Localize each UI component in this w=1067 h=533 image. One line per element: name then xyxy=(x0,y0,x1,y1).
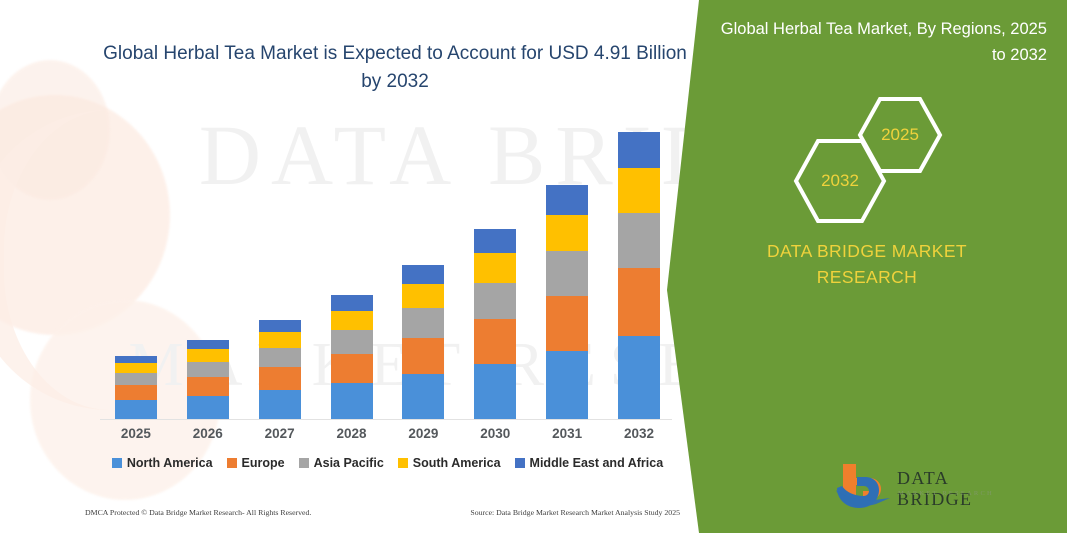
hexagon-end-year-label: 2032 xyxy=(821,171,859,191)
stacked-bar xyxy=(618,132,660,419)
logo-wordmark: DATA BRIDGE xyxy=(897,468,1025,510)
legend-item[interactable]: North America xyxy=(112,456,213,470)
bar-segment xyxy=(618,213,660,268)
bar-segment xyxy=(331,311,373,330)
legend-swatch-icon xyxy=(515,458,525,468)
infographic-canvas: DATA BRIDGE MARKET RESEARCH Global Herba… xyxy=(0,0,1067,533)
logo-tagline: MARKET RESEARCH xyxy=(898,490,994,497)
legend-label: Europe xyxy=(242,456,285,470)
x-axis-tick-label: 2032 xyxy=(603,426,675,441)
bar-segment xyxy=(546,185,588,214)
stacked-bar xyxy=(115,356,157,420)
stacked-bar xyxy=(187,340,229,419)
bar-segment xyxy=(474,229,516,253)
stacked-bar xyxy=(331,295,373,419)
bar-segment xyxy=(187,340,229,350)
stacked-bar xyxy=(259,320,301,419)
bar-segment xyxy=(259,390,301,419)
bar-segment xyxy=(259,348,301,367)
bar-segment xyxy=(402,265,444,284)
bar-segment xyxy=(115,400,157,419)
legend-item[interactable]: Middle East and Africa xyxy=(515,456,664,470)
bar-segment xyxy=(402,374,444,419)
bar-segment xyxy=(115,356,157,364)
hexagon-start-year: 2025 xyxy=(856,95,944,175)
brand-name-line-1: DATA BRIDGE MARKET xyxy=(767,241,967,261)
bar-segment xyxy=(474,253,516,282)
legend-label: Asia Pacific xyxy=(314,456,384,470)
legend-label: South America xyxy=(413,456,501,470)
chart-axis-line xyxy=(100,419,672,420)
legend-item[interactable]: South America xyxy=(398,456,501,470)
hexagon-end-year: 2032 xyxy=(792,137,888,225)
bar-segment xyxy=(546,296,588,351)
logo-mark-icon xyxy=(835,462,895,510)
bar-segment xyxy=(474,283,516,319)
bar-segment xyxy=(546,251,588,296)
bar-segment xyxy=(402,308,444,337)
x-axis-tick-label: 2027 xyxy=(244,426,316,441)
legend-item[interactable]: Asia Pacific xyxy=(299,456,384,470)
bar-segment xyxy=(259,332,301,347)
hexagon-start-year-label: 2025 xyxy=(881,125,919,145)
legend-item[interactable]: Europe xyxy=(227,456,285,470)
x-axis-tick-label: 2026 xyxy=(172,426,244,441)
stacked-bar xyxy=(546,185,588,419)
bar-segment xyxy=(115,373,157,385)
bar-column xyxy=(172,120,244,419)
legend-label: Middle East and Africa xyxy=(530,456,664,470)
legend-swatch-icon xyxy=(398,458,408,468)
bar-segment xyxy=(618,336,660,419)
brand-name: DATA BRIDGE MARKET RESEARCH xyxy=(667,238,1067,290)
bar-segment xyxy=(331,354,373,383)
x-axis-tick-label: 2031 xyxy=(531,426,603,441)
x-axis-tick-label: 2029 xyxy=(388,426,460,441)
chart-title: Global Herbal Tea Market is Expected to … xyxy=(95,40,695,96)
bar-column xyxy=(100,120,172,419)
stacked-bar xyxy=(474,229,516,419)
legend-swatch-icon xyxy=(227,458,237,468)
right-green-panel: Global Herbal Tea Market, By Regions, 20… xyxy=(667,0,1067,533)
bar-segment xyxy=(259,320,301,332)
bar-segment xyxy=(546,351,588,419)
bar-segment xyxy=(187,362,229,377)
brand-name-line-2: RESEARCH xyxy=(667,264,1067,290)
bar-segment xyxy=(331,295,373,310)
bar-segment xyxy=(546,215,588,251)
bar-segment xyxy=(402,338,444,374)
footer-source: Source: Data Bridge Market Research Mark… xyxy=(470,508,680,517)
x-axis-tick-label: 2028 xyxy=(316,426,388,441)
x-axis-tick-label: 2025 xyxy=(100,426,172,441)
chart-x-axis: 20252026202720282029203020312032 xyxy=(100,426,675,441)
bar-segment xyxy=(115,385,157,400)
bar-segment xyxy=(187,349,229,361)
footer-copyright: DMCA Protected © Data Bridge Market Rese… xyxy=(85,508,311,517)
bar-segment xyxy=(618,132,660,168)
chart-legend: North AmericaEuropeAsia PacificSouth Ame… xyxy=(100,456,675,470)
bar-segment xyxy=(115,363,157,373)
bar-segment xyxy=(618,168,660,213)
bar-column xyxy=(603,120,675,419)
data-bridge-logo: DATA BRIDGE MARKET RESEARCH xyxy=(835,462,1025,514)
bar-segment xyxy=(474,364,516,419)
footer: DMCA Protected © Data Bridge Market Rese… xyxy=(85,508,680,517)
stacked-bar-chart xyxy=(100,120,675,419)
bar-segment xyxy=(187,377,229,396)
legend-swatch-icon xyxy=(112,458,122,468)
bar-column xyxy=(244,120,316,419)
bar-segment xyxy=(331,330,373,354)
stacked-bar xyxy=(402,265,444,419)
x-axis-tick-label: 2030 xyxy=(459,426,531,441)
bar-column xyxy=(531,120,603,419)
bar-segment xyxy=(259,367,301,390)
bar-segment xyxy=(187,396,229,419)
bar-column xyxy=(459,120,531,419)
bar-segment xyxy=(474,319,516,364)
bar-segment xyxy=(402,284,444,308)
bar-column xyxy=(388,120,460,419)
panel-title: Global Herbal Tea Market, By Regions, 20… xyxy=(717,16,1047,68)
bar-segment xyxy=(331,383,373,419)
bar-segment xyxy=(618,268,660,336)
legend-label: North America xyxy=(127,456,213,470)
legend-swatch-icon xyxy=(299,458,309,468)
bar-column xyxy=(316,120,388,419)
